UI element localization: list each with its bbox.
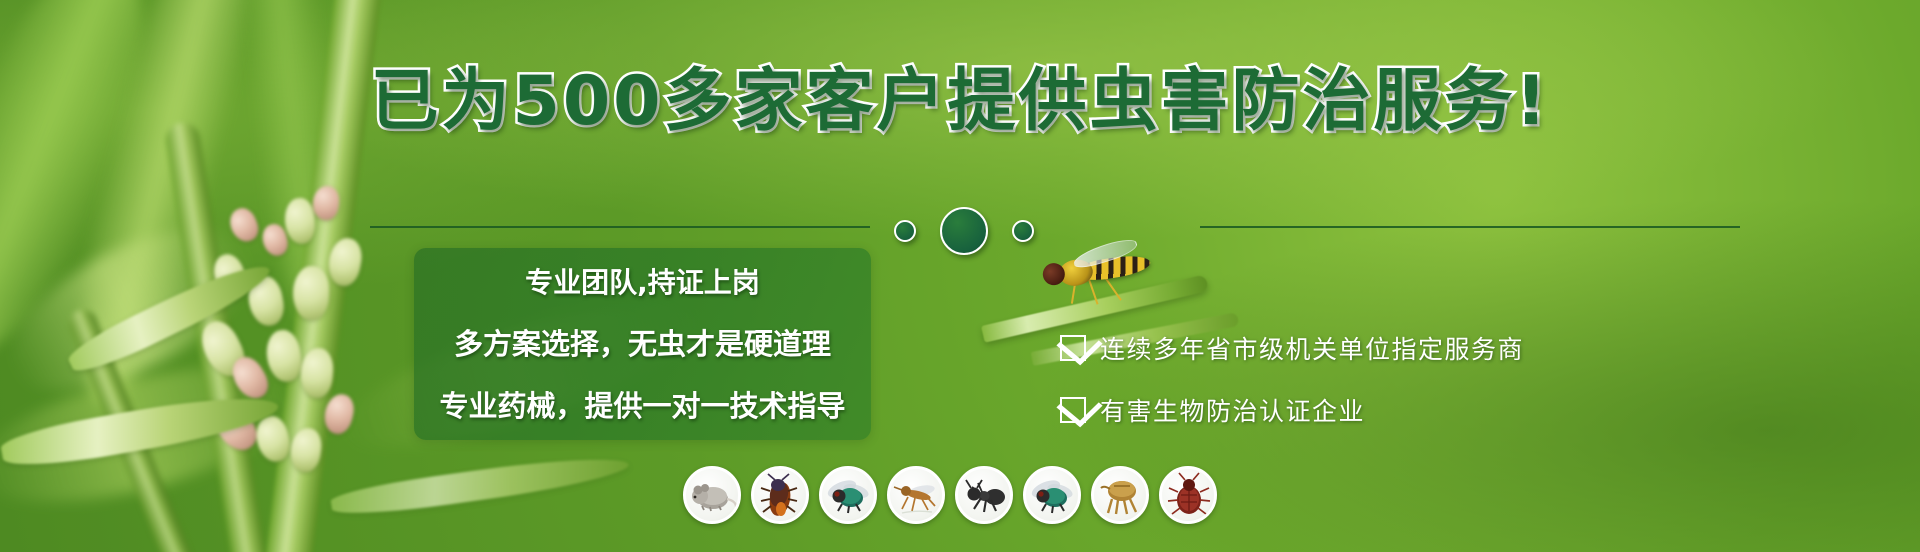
cockroach-icon[interactable] [751,466,809,524]
slogan-panel: 专业团队,持证上岗 多方案选择，无虫才是硬道理 专业药械，提供一对一技术指导 [414,248,871,440]
divider-dot-large-center [940,207,988,255]
mosquito-icon[interactable] [887,466,945,524]
fly-icon[interactable] [819,466,877,524]
divider-line-left [370,226,870,228]
slogan-line-2: 多方案选择，无虫才是硬道理 [454,321,831,363]
bedbug-icon[interactable] [1159,466,1217,524]
pest-icon-row [683,466,1217,524]
ant-icon[interactable] [955,466,1013,524]
decorative-divider [0,210,1920,244]
checklist-item-label: 有害生物防治认证企业 [1100,392,1365,428]
page-title: 已为500多家客户提供虫害防治服务! [371,68,1550,136]
slogan-line-3: 专业药械，提供一对一技术指导 [439,383,845,425]
headline-container: 已为500多家客户提供虫害防治服务! [0,68,1920,136]
checklist-item: 有害生物防治认证企业 [1060,392,1524,428]
credentials-checklist: 连续多年省市级机关单位指定服务商 有害生物防治认证企业 [1060,330,1524,454]
pest-control-promo-banner: 已为500多家客户提供虫害防治服务! 专业团队,持证上岗 多方案选择，无虫才是硬… [0,0,1920,552]
divider-line-right [1200,226,1740,228]
flea-icon[interactable] [1091,466,1149,524]
checklist-item: 连续多年省市级机关单位指定服务商 [1060,330,1524,366]
checkbox-checked-icon [1060,335,1086,361]
divider-dot-small-right [1012,220,1034,242]
checkbox-checked-icon [1060,397,1086,423]
fly-icon-2[interactable] [1023,466,1081,524]
divider-dot-small-left [894,220,916,242]
slogan-line-1: 专业团队,持证上岗 [525,261,760,301]
checklist-item-label: 连续多年省市级机关单位指定服务商 [1100,330,1524,366]
rat-icon[interactable] [683,466,741,524]
